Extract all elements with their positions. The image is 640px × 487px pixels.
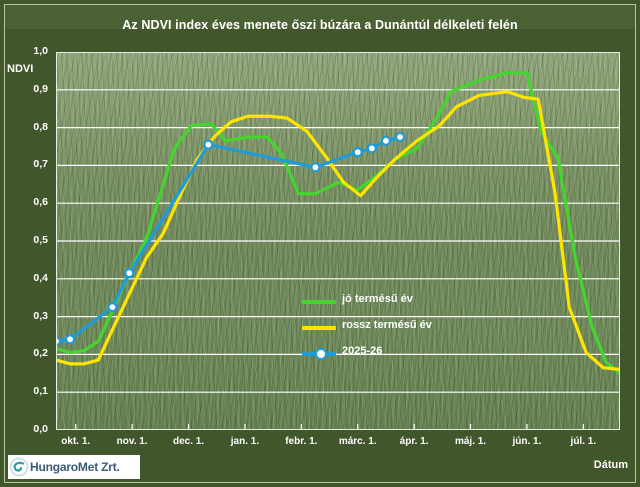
x-tick-label: ápr. 1.	[400, 436, 429, 447]
y-axis-label: NDVI	[7, 63, 33, 75]
y-tick-label: 0,5	[0, 234, 48, 246]
x-tick-label: máj. 1.	[455, 436, 486, 447]
y-tick-label: 0,7	[0, 158, 48, 170]
series-marker	[108, 303, 116, 311]
x-tick-label: dec. 1.	[173, 436, 204, 447]
spiral-icon	[8, 457, 30, 477]
chart-window: Az NDVI index éves menete őszi búzára a …	[0, 0, 640, 487]
y-tick-label: 0,4	[0, 272, 48, 284]
legend-label: 2025-26	[342, 345, 382, 357]
x-tick-label: márc. 1.	[339, 436, 377, 447]
y-tick-label: 0,8	[0, 121, 48, 133]
series-marker	[204, 141, 212, 149]
series-line	[56, 137, 400, 341]
y-tick-label: 0,0	[0, 423, 48, 435]
x-tick-label: febr. 1.	[285, 436, 317, 447]
legend-label: rossz termésű év	[342, 319, 432, 331]
plot-area	[56, 52, 620, 430]
legend-label: jó termésű év	[342, 293, 413, 305]
series-marker	[354, 148, 362, 156]
x-axis-label: Dátum	[594, 459, 628, 471]
series-marker	[311, 163, 319, 171]
series-marker	[66, 335, 74, 343]
logo-text: HungaroMet Zrt.	[30, 460, 120, 474]
series-line	[56, 92, 620, 370]
y-tick-label: 0,6	[0, 196, 48, 208]
data-series	[56, 52, 620, 430]
series-marker	[56, 337, 60, 345]
y-tick-label: 0,9	[0, 83, 48, 95]
x-tick-label: nov. 1.	[117, 436, 148, 447]
x-tick-label: jún. 1.	[512, 436, 541, 447]
y-tick-label: 0,2	[0, 347, 48, 359]
series-marker	[382, 137, 390, 145]
x-tick-label: júl. 1.	[571, 436, 597, 447]
series-marker	[396, 133, 404, 141]
legend-marker-icon	[315, 348, 327, 360]
x-tick-label: okt. 1.	[61, 436, 90, 447]
x-tick-label: jan. 1.	[231, 436, 259, 447]
series-marker	[125, 269, 133, 277]
y-tick-label: 1,0	[0, 45, 48, 57]
series-line	[56, 73, 620, 374]
y-tick-label: 0,1	[0, 385, 48, 397]
series-marker	[368, 144, 376, 152]
hungaromet-logo: HungaroMet Zrt.	[8, 455, 140, 479]
y-tick-label: 0,3	[0, 310, 48, 322]
legend-swatch	[302, 300, 336, 304]
legend-swatch	[302, 326, 336, 330]
page-title: Az NDVI index éves menete őszi búzára a …	[0, 18, 640, 32]
